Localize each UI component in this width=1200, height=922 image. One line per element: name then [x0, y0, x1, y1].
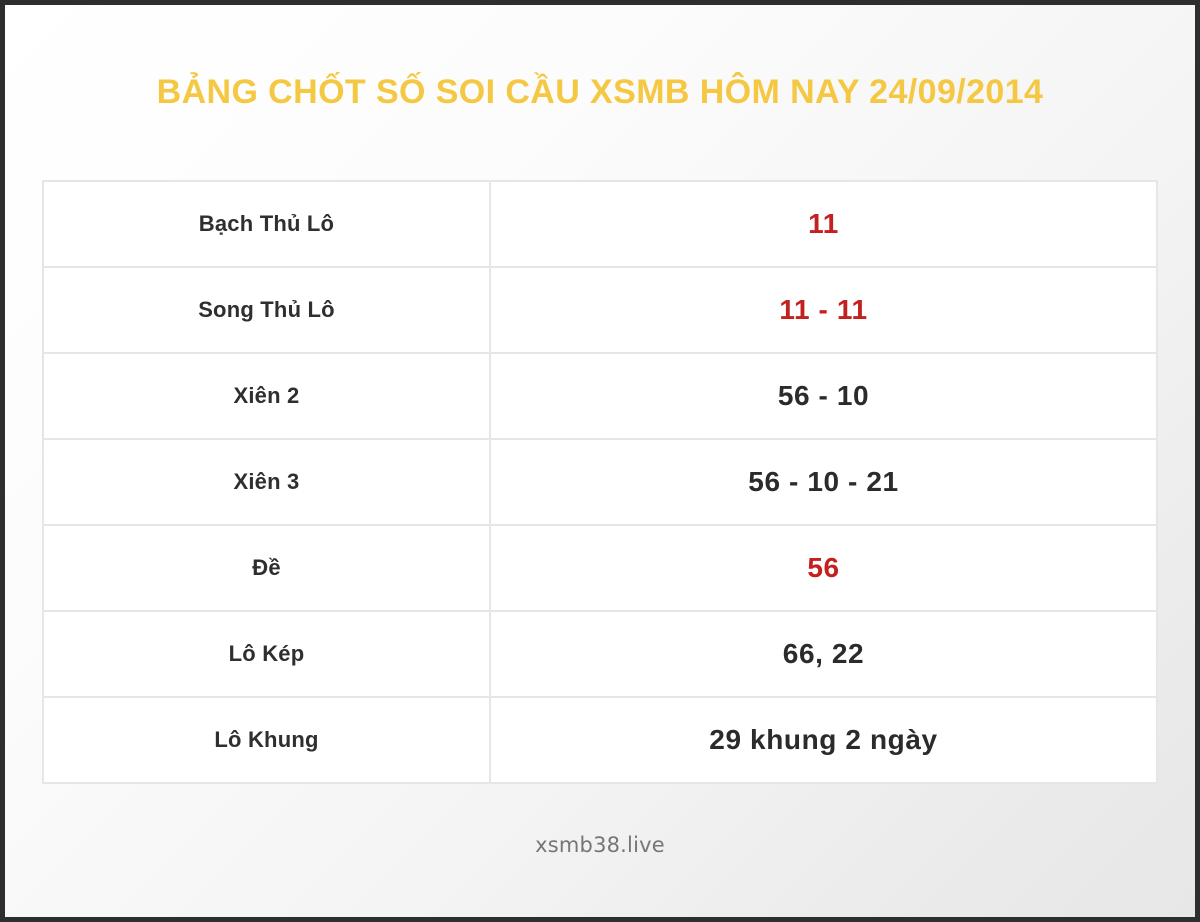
row-label-xien-3: Xiên 3	[43, 439, 490, 525]
row-label-lo-kep: Lô Kép	[43, 611, 490, 697]
title-container: BẢNG CHỐT SỐ SOI CẦU XSMB HÔM NAY 24/09/…	[5, 5, 1195, 180]
row-value-lo-khung: 29 khung 2 ngày	[490, 697, 1157, 783]
table-row: Song Thủ Lô 11 - 11	[43, 267, 1157, 353]
table-row: Xiên 3 56 - 10 - 21	[43, 439, 1157, 525]
table-row: Đề 56	[43, 525, 1157, 611]
table-body: Bạch Thủ Lô 11 Song Thủ Lô 11 - 11 Xiên …	[43, 181, 1157, 783]
row-value-bach-thu-lo: 11	[490, 181, 1157, 267]
row-label-bach-thu-lo: Bạch Thủ Lô	[43, 181, 490, 267]
site-watermark: xsmb38.live	[535, 833, 665, 857]
footer: xsmb38.live	[5, 820, 1195, 870]
soi-cau-table: Bạch Thủ Lô 11 Song Thủ Lô 11 - 11 Xiên …	[42, 180, 1158, 784]
page-title: BẢNG CHỐT SỐ SOI CẦU XSMB HÔM NAY 24/09/…	[157, 74, 1044, 111]
row-value-song-thu-lo: 11 - 11	[490, 267, 1157, 353]
row-label-de: Đề	[43, 525, 490, 611]
page-canvas: BẢNG CHỐT SỐ SOI CẦU XSMB HÔM NAY 24/09/…	[5, 5, 1195, 917]
row-value-xien-2: 56 - 10	[490, 353, 1157, 439]
table-row: Xiên 2 56 - 10	[43, 353, 1157, 439]
row-value-de: 56	[490, 525, 1157, 611]
table-row: Lô Khung 29 khung 2 ngày	[43, 697, 1157, 783]
row-label-xien-2: Xiên 2	[43, 353, 490, 439]
row-value-lo-kep: 66, 22	[490, 611, 1157, 697]
row-label-lo-khung: Lô Khung	[43, 697, 490, 783]
row-label-song-thu-lo: Song Thủ Lô	[43, 267, 490, 353]
row-value-xien-3: 56 - 10 - 21	[490, 439, 1157, 525]
table-row: Lô Kép 66, 22	[43, 611, 1157, 697]
table-row: Bạch Thủ Lô 11	[43, 181, 1157, 267]
